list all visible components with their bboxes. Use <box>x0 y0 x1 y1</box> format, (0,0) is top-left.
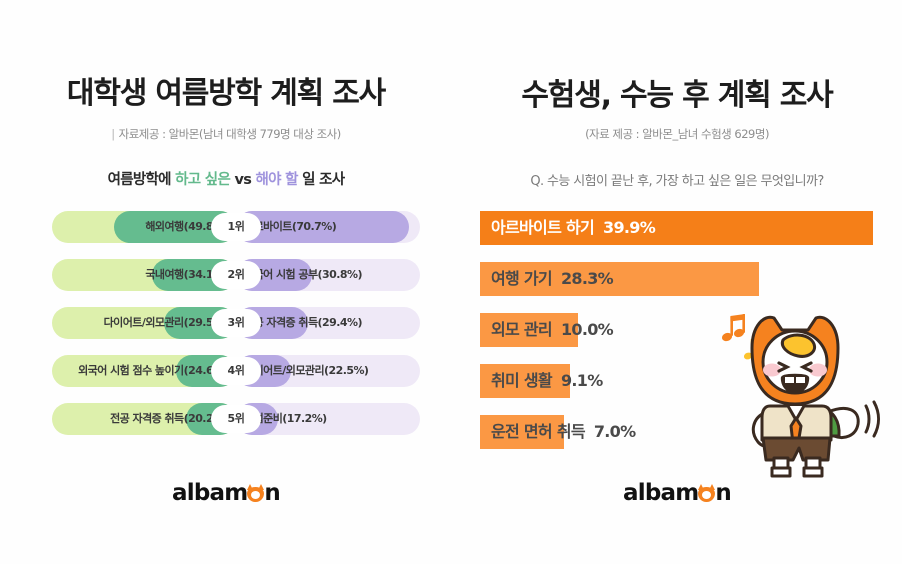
albamon-mascot <box>700 300 890 490</box>
rank-pill: 5위 <box>211 405 261 433</box>
rank-pill: 4위 <box>211 357 261 385</box>
orange-bar-name: 운전 면허 취득 <box>491 422 585 441</box>
orange-bar-name: 외모 관리 <box>491 320 552 339</box>
question-vs: vs <box>230 172 255 188</box>
logo-text-main: albam <box>172 480 247 506</box>
right-panel-subtitle: (자료 제공 : 알바몬_남녀 수험생 629명) <box>452 126 902 142</box>
orange-bar-value: 39.9% <box>603 218 655 237</box>
rank-pill: 3위 <box>211 309 261 337</box>
orange-bar-row: 아르바이트 하기39.9% <box>480 211 880 245</box>
question-suffix: 일 조사 <box>298 172 345 188</box>
orange-bar-name: 아르바이트 하기 <box>491 218 594 237</box>
orange-bar-text: 아르바이트 하기39.9% <box>491 211 655 245</box>
right-panel-question: Q. 수능 시험이 끝난 후, 가장 하고 싶은 일은 무엇입니까? <box>452 170 902 189</box>
orange-bar-value: 28.3% <box>561 269 613 288</box>
question-prefix: 여름방학에 <box>108 172 176 188</box>
orange-bar-text: 취미 생활9.1% <box>491 364 603 398</box>
diverging-bar-row: 해외여행(49.8%)아르바이트(70.7%)1위 <box>52 211 420 243</box>
right-bar-label: 전공 자격증 취득(29.4%) <box>244 307 362 339</box>
left-subtitle-text: 자료제공 : 알바몬(남녀 대학생 779명 대상 조사) <box>119 127 341 141</box>
diverging-bar-row: 외국어 시험 점수 높이기(24.6%)다이어트/외모관리(22.5%)4위 <box>52 355 420 387</box>
diverging-bar-row: 다이어트/외모관리(29.5%)전공 자격증 취득(29.4%)3위 <box>52 307 420 339</box>
left-panel: 대학생 여름방학 계획 조사 |자료제공 : 알바몬(남녀 대학생 779명 대… <box>0 0 452 564</box>
orange-bar-value: 10.0% <box>561 320 613 339</box>
rank-pill: 1위 <box>211 213 261 241</box>
cat-head-icon <box>247 485 264 502</box>
left-panel-title: 대학생 여름방학 계획 조사 <box>0 68 452 112</box>
diverging-bar-row: 전공 자격증 취득(20.2%)취업준비(17.2%)5위 <box>52 403 420 435</box>
orange-bar-row: 여행 가기28.3% <box>480 262 880 296</box>
left-panel-question: 여름방학에 하고 싶은 vs 해야 할 일 조사 <box>0 168 452 189</box>
right-panel-title: 수험생, 수능 후 계획 조사 <box>452 70 902 114</box>
diverging-bar-chart: 해외여행(49.8%)아르바이트(70.7%)1위국내여행(34.1%)외국어 … <box>52 211 420 451</box>
left-albamon-logo: albamn <box>0 480 452 506</box>
orange-bar-text: 외모 관리10.0% <box>491 313 613 347</box>
right-bar-label: 다이어트/외모관리(22.5%) <box>244 355 368 387</box>
question-green-term: 하고 싶은 <box>175 172 230 188</box>
right-bar-label: 외국어 시험 공부(30.8%) <box>244 259 362 291</box>
subtitle-tick-mark: | <box>111 127 114 141</box>
diverging-bar-row: 국내여행(34.1%)외국어 시험 공부(30.8%)2위 <box>52 259 420 291</box>
logo-text-main: albam <box>623 480 698 506</box>
orange-bar-text: 운전 면허 취득7.0% <box>491 415 635 449</box>
orange-bar-name: 여행 가기 <box>491 269 552 288</box>
left-panel-subtitle: |자료제공 : 알바몬(남녀 대학생 779명 대상 조사) <box>0 126 452 142</box>
infographic-canvas: 대학생 여름방학 계획 조사 |자료제공 : 알바몬(남녀 대학생 779명 대… <box>0 0 902 564</box>
orange-bar-text: 여행 가기28.3% <box>491 262 613 296</box>
left-bar-label: 외국어 시험 점수 높이기(24.6%) <box>78 355 228 387</box>
orange-bar-value: 9.1% <box>561 371 603 390</box>
logo-text-tail: n <box>264 480 280 506</box>
left-bar-label: 다이어트/외모관리(29.5%) <box>104 307 228 339</box>
rank-pill: 2위 <box>211 261 261 289</box>
orange-bar-value: 7.0% <box>594 422 636 441</box>
question-purple-term: 해야 할 <box>255 172 297 188</box>
orange-bar-name: 취미 생활 <box>491 371 552 390</box>
